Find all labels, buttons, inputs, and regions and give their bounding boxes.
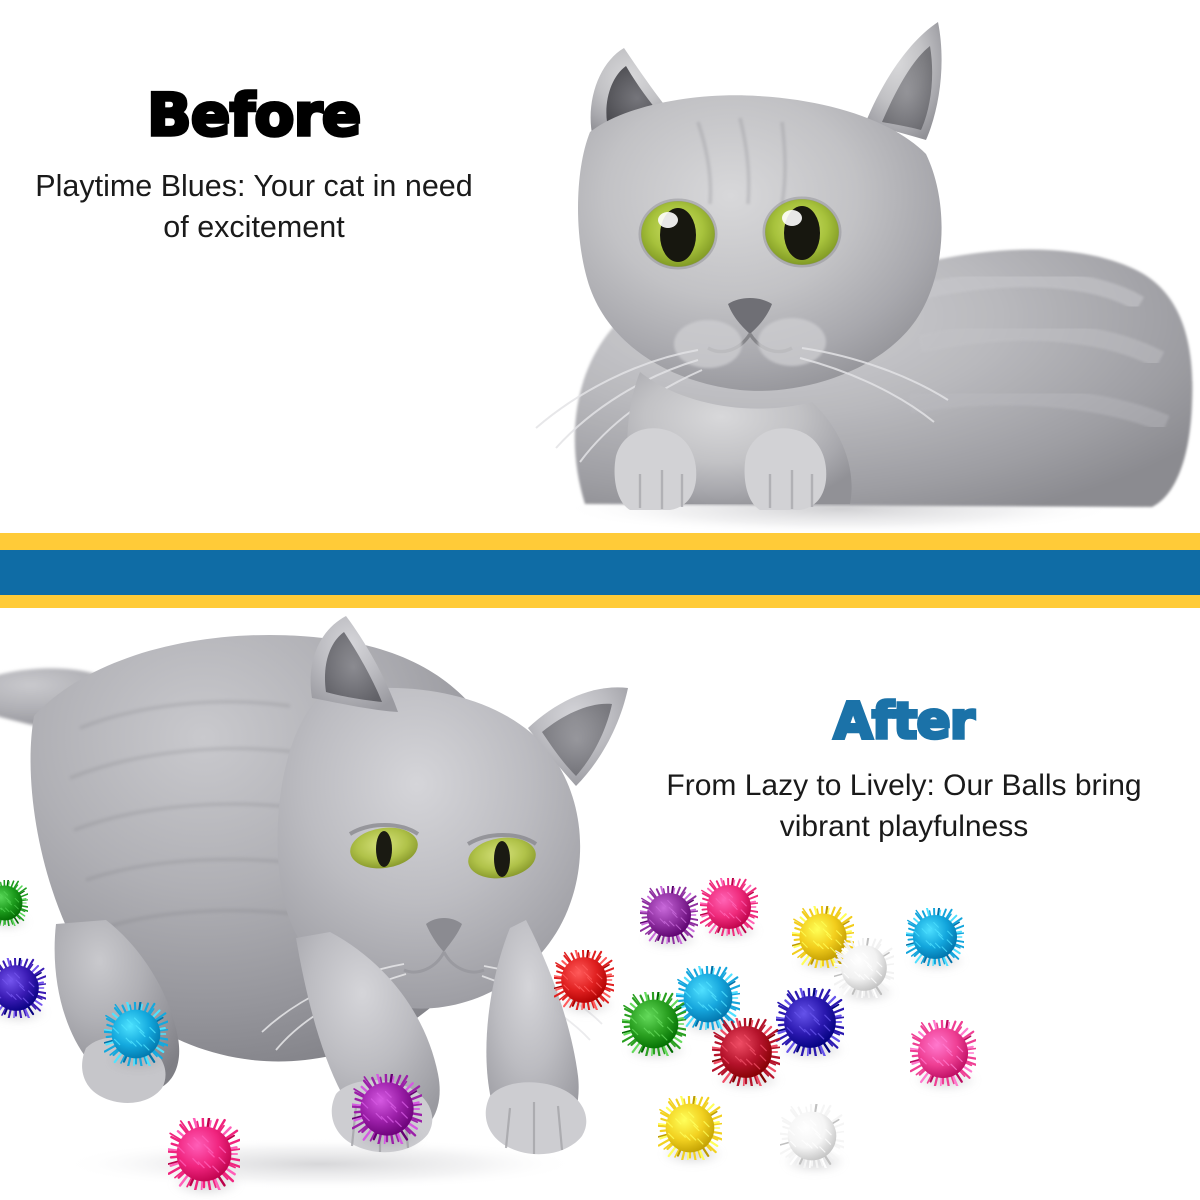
pompom-pink-top	[700, 878, 758, 936]
pompom-tinsel	[0, 880, 28, 926]
pompom-tinsel	[780, 1104, 844, 1168]
pompom-tinsel	[776, 988, 844, 1056]
divider-stripe-middle	[0, 550, 1200, 595]
pompom-tinsel	[712, 1018, 780, 1086]
pompom-purple-top	[640, 886, 698, 944]
before-after-poster: Before Playtime Blues: Your cat in need …	[0, 0, 1200, 1200]
before-after-divider	[0, 533, 1200, 608]
pompom-cyan-right-top	[906, 908, 964, 966]
divider-stripe-top	[0, 533, 1200, 550]
pompom-pink-bottom	[168, 1118, 240, 1190]
before-cat-photo	[440, 4, 1200, 532]
pompom-tinsel	[700, 878, 758, 936]
pompom-yellow-lower	[658, 1096, 722, 1160]
pompom-indigo-far-left	[0, 958, 46, 1018]
pompom-tinsel	[640, 886, 698, 944]
before-panel: Before Playtime Blues: Your cat in need …	[0, 0, 1200, 533]
before-text-block: Before Playtime Blues: Your cat in need …	[28, 86, 480, 249]
pompom-tinsel	[0, 958, 46, 1018]
pompom-cyan-paw	[104, 1002, 168, 1066]
pompom-tinsel	[554, 950, 614, 1010]
pompom-tinsel	[622, 992, 686, 1056]
after-label: After	[628, 696, 1180, 746]
pompom-tinsel	[104, 1002, 168, 1066]
after-caption: From Lazy to Lively: Our Balls bring vib…	[628, 766, 1180, 848]
pompom-tinsel	[910, 1020, 976, 1086]
pompom-tinsel	[352, 1074, 422, 1144]
divider-stripe-bottom	[0, 595, 1200, 608]
pompom-crimson-middle	[712, 1018, 780, 1086]
pompom-pink-right	[910, 1020, 976, 1086]
pompom-blue-violet	[776, 988, 844, 1056]
pompom-white-lower	[780, 1104, 844, 1168]
pompom-tinsel	[168, 1118, 240, 1190]
pompom-green-middle	[622, 992, 686, 1056]
pompom-red-left	[554, 950, 614, 1010]
pompom-tinsel	[906, 908, 964, 966]
before-caption: Playtime Blues: Your cat in need of exci…	[28, 166, 480, 249]
pompom-tinsel	[658, 1096, 722, 1160]
after-cat-photo	[0, 608, 690, 1200]
before-label: Before	[28, 86, 480, 144]
after-panel: After From Lazy to Lively: Our Balls bri…	[0, 608, 1200, 1200]
pompom-purple-paw	[352, 1074, 422, 1144]
pompom-green-edge	[0, 880, 28, 926]
after-text-block: After From Lazy to Lively: Our Balls bri…	[628, 696, 1180, 848]
